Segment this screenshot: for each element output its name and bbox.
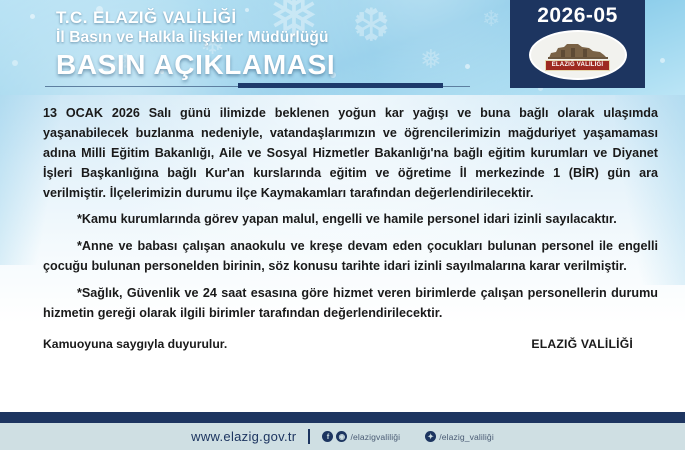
department-subtitle: İl Basın ve Halkla İlişkiler Müdürlüğü: [56, 29, 335, 47]
poster-footer: www.elazig.gov.tr f ◉ /elazigvaliliği ✦ …: [0, 423, 685, 450]
snow-dot: [465, 64, 470, 69]
closing-statement: Kamuoyuna saygıyla duyurulur.: [43, 337, 227, 351]
harput-castle-icon: [547, 42, 609, 59]
governorship-emblem: ELAZIĞ VALİLİĞİ: [529, 30, 627, 80]
paragraph-bullet-2: *Anne ve babası çalışan anaokulu ve kreş…: [43, 237, 658, 277]
snow-dot: [660, 58, 665, 63]
issue-badge: 2026-05 ELAZIĞ VALİLİĞİ: [510, 0, 645, 88]
signature-authority: ELAZIĞ VALİLİĞİ: [531, 337, 633, 351]
emblem-ribbon-label: ELAZIĞ VALİLİĞİ: [545, 60, 611, 71]
announcement-body: 13 OCAK 2026 Salı günü ilimizde beklenen…: [0, 95, 685, 412]
instagram-icon[interactable]: ◉: [336, 431, 347, 442]
twitter-bird-icon[interactable]: ✦: [425, 431, 436, 442]
snowflake-icon: ❅: [420, 46, 442, 72]
paragraph-bullet-3: *Sağlık, Güvenlik ve 24 saat esasına gör…: [43, 284, 658, 324]
closing-row: Kamuoyuna saygıyla duyurulur. ELAZIĞ VAL…: [43, 337, 658, 351]
paragraph-main: 13 OCAK 2026 Salı günü ilimizde beklenen…: [43, 104, 658, 203]
social-group-secondary[interactable]: ✦ /elazig_valiliği: [425, 431, 494, 442]
header-divider-accent: [238, 83, 443, 88]
social-handle-primary[interactable]: /elazigvaliliği: [350, 432, 400, 442]
social-group-primary[interactable]: f ◉ /elazigvaliliği: [322, 431, 400, 442]
snow-dot: [30, 14, 35, 19]
footer-separator: [308, 429, 310, 444]
organization-title: T.C. ELAZIĞ VALİLİĞİ: [56, 8, 335, 28]
press-release-poster: ❅ ❆ ❄ ❅ ❆ ❄ T.C. ELAZIĞ VALİLİĞİ İl Bası…: [0, 0, 685, 450]
facebook-icon[interactable]: f: [322, 431, 333, 442]
issue-number: 2026-05: [537, 5, 618, 27]
header-title-group: T.C. ELAZIĞ VALİLİĞİ İl Basın ve Halkla …: [56, 8, 335, 81]
footer-accent-bar: [0, 412, 685, 423]
snowflake-icon: ❄: [482, 8, 500, 30]
snow-dot: [12, 60, 18, 66]
website-link[interactable]: www.elazig.gov.tr: [191, 429, 296, 444]
page-title: BASIN AÇIKLAMASI: [56, 49, 335, 81]
poster-header: ❅ ❆ ❄ ❅ ❆ ❄ T.C. ELAZIĞ VALİLİĞİ İl Bası…: [0, 0, 685, 95]
snowflake-icon: ❆: [352, 2, 391, 48]
paragraph-bullet-1: *Kamu kurumlarında görev yapan malul, en…: [43, 210, 658, 230]
social-handle-secondary[interactable]: /elazig_valiliği: [439, 432, 494, 442]
